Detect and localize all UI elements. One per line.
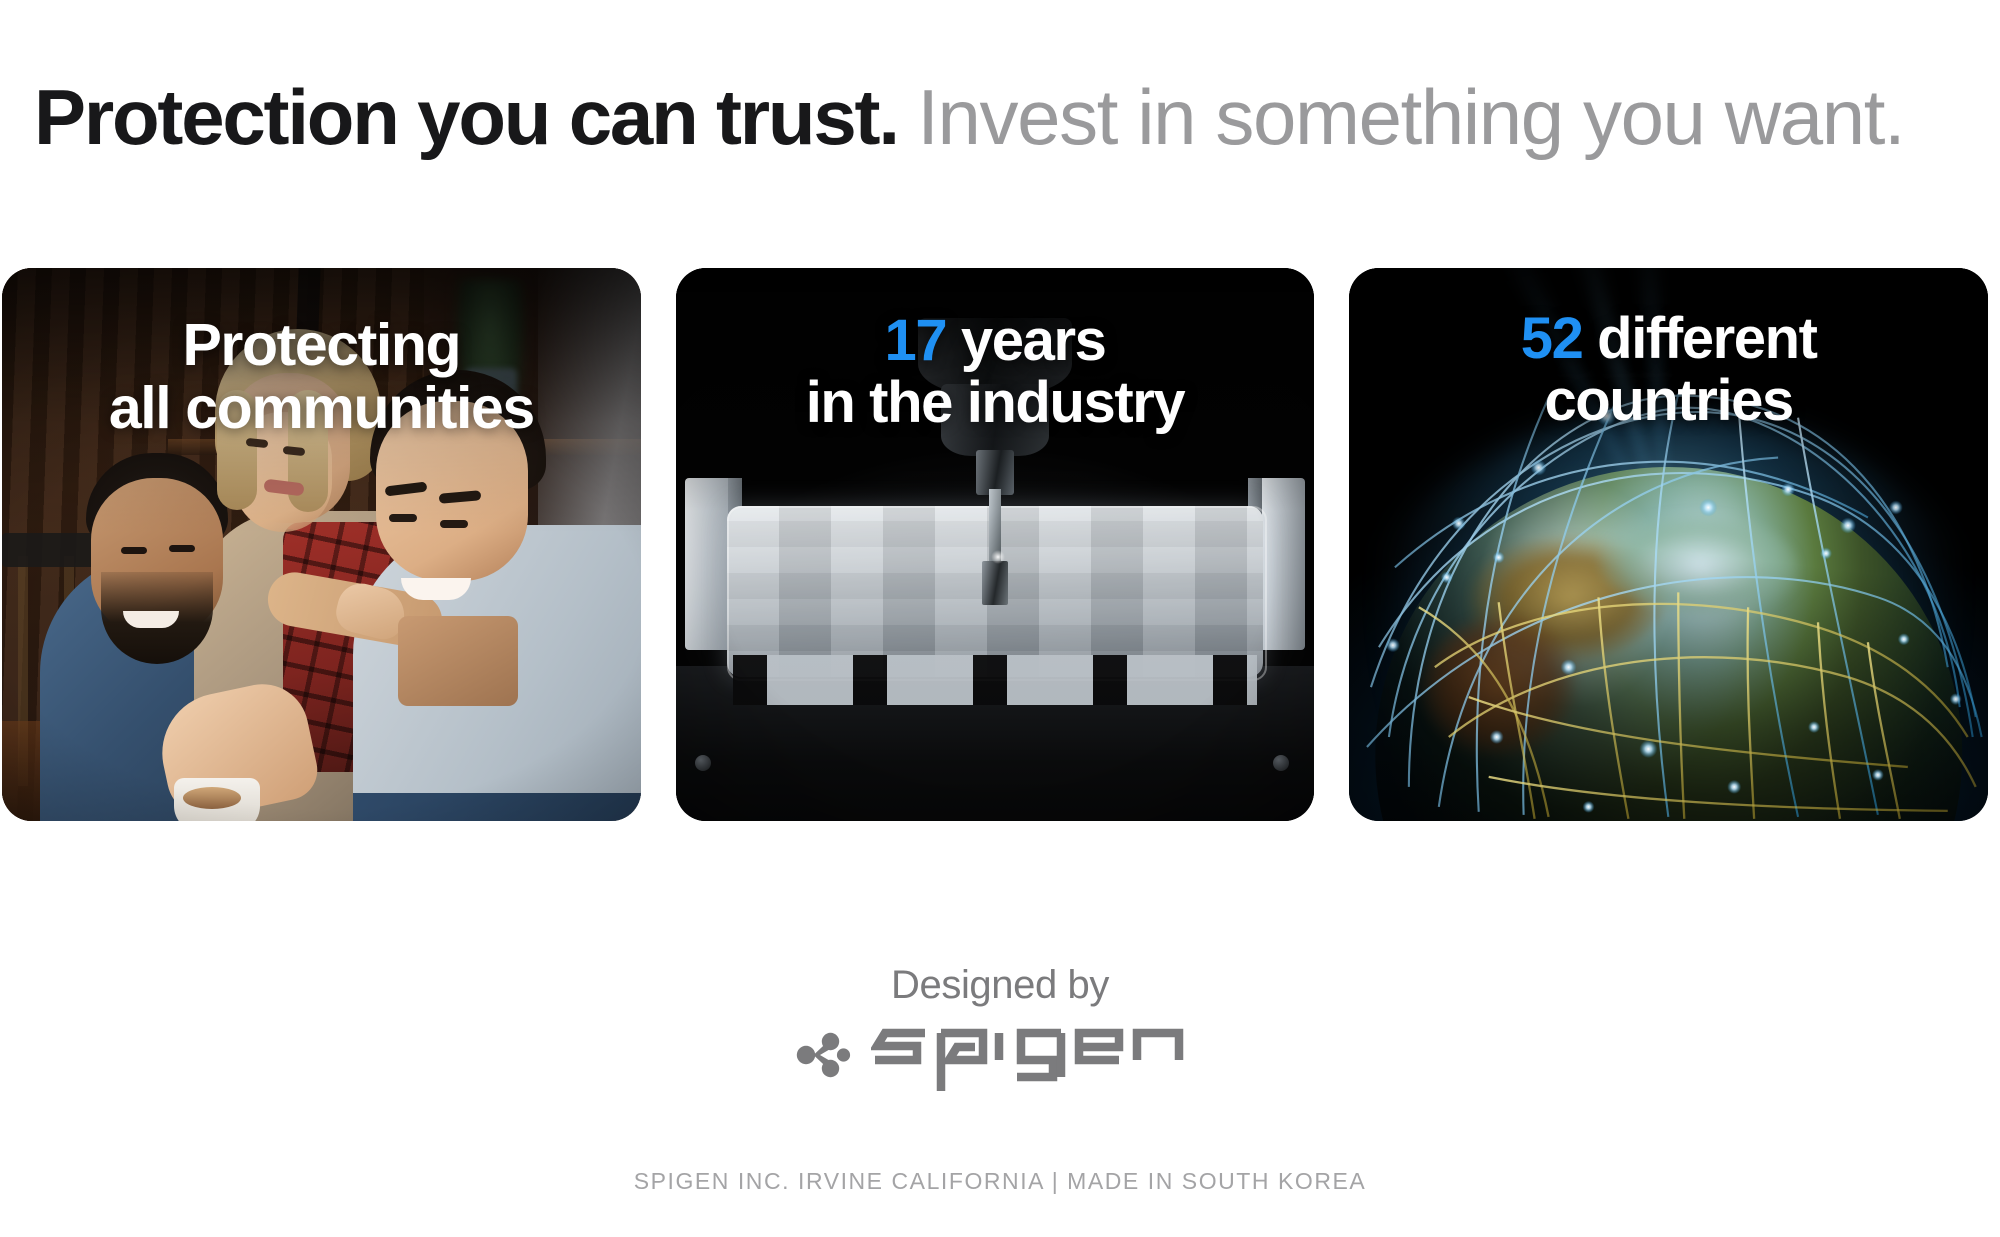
marketing-banner: Protection you can trust. Invest in some… <box>0 0 2000 1237</box>
card-1-caption-line-1: Protecting <box>2 314 641 377</box>
spigen-molecule-logo-icon <box>789 1022 855 1088</box>
spigen-logo-lockup <box>789 1013 1211 1097</box>
headline-secondary: Invest in something you want. <box>917 73 1904 161</box>
designed-by-label: Designed by <box>0 965 2000 1005</box>
brand-block: Designed by <box>0 965 2000 1097</box>
legal-footer: SPIGEN INC. IRVINE CALIFORNIA | MADE IN … <box>0 1168 2000 1195</box>
card-2-caption-line-2: in the industry <box>676 372 1315 434</box>
feature-card-protecting-all-communities[interactable]: Protecting all communities <box>2 268 641 821</box>
card-1-caption-line-2: all communities <box>2 377 641 440</box>
card-2-accent-number: 17 <box>884 308 946 373</box>
card-1-caption: Protecting all communities <box>2 314 641 440</box>
feature-card-17-years-in-the-industry[interactable]: 17 years in the industry <box>676 268 1315 821</box>
card-3-caption-line-1-rest: different <box>1582 306 1816 371</box>
feature-card-52-different-countries[interactable]: 52 different countries <box>1349 268 1988 821</box>
card-3-caption-line-2: countries <box>1349 370 1988 432</box>
feature-card-row: Protecting all communities <box>2 268 1988 821</box>
card-2-caption-line-1: 17 years <box>676 310 1315 372</box>
card-3-caption: 52 different countries <box>1349 308 1988 432</box>
page-title: Protection you can trust. Invest in some… <box>34 78 1904 156</box>
spigen-wordmark-icon <box>871 1013 1211 1097</box>
card-2-caption: 17 years in the industry <box>676 310 1315 434</box>
card-3-caption-line-1: 52 different <box>1349 308 1988 370</box>
card-3-accent-number: 52 <box>1521 306 1583 371</box>
headline-primary: Protection you can trust. <box>34 73 898 161</box>
card-2-caption-line-1-rest: years <box>946 308 1105 373</box>
